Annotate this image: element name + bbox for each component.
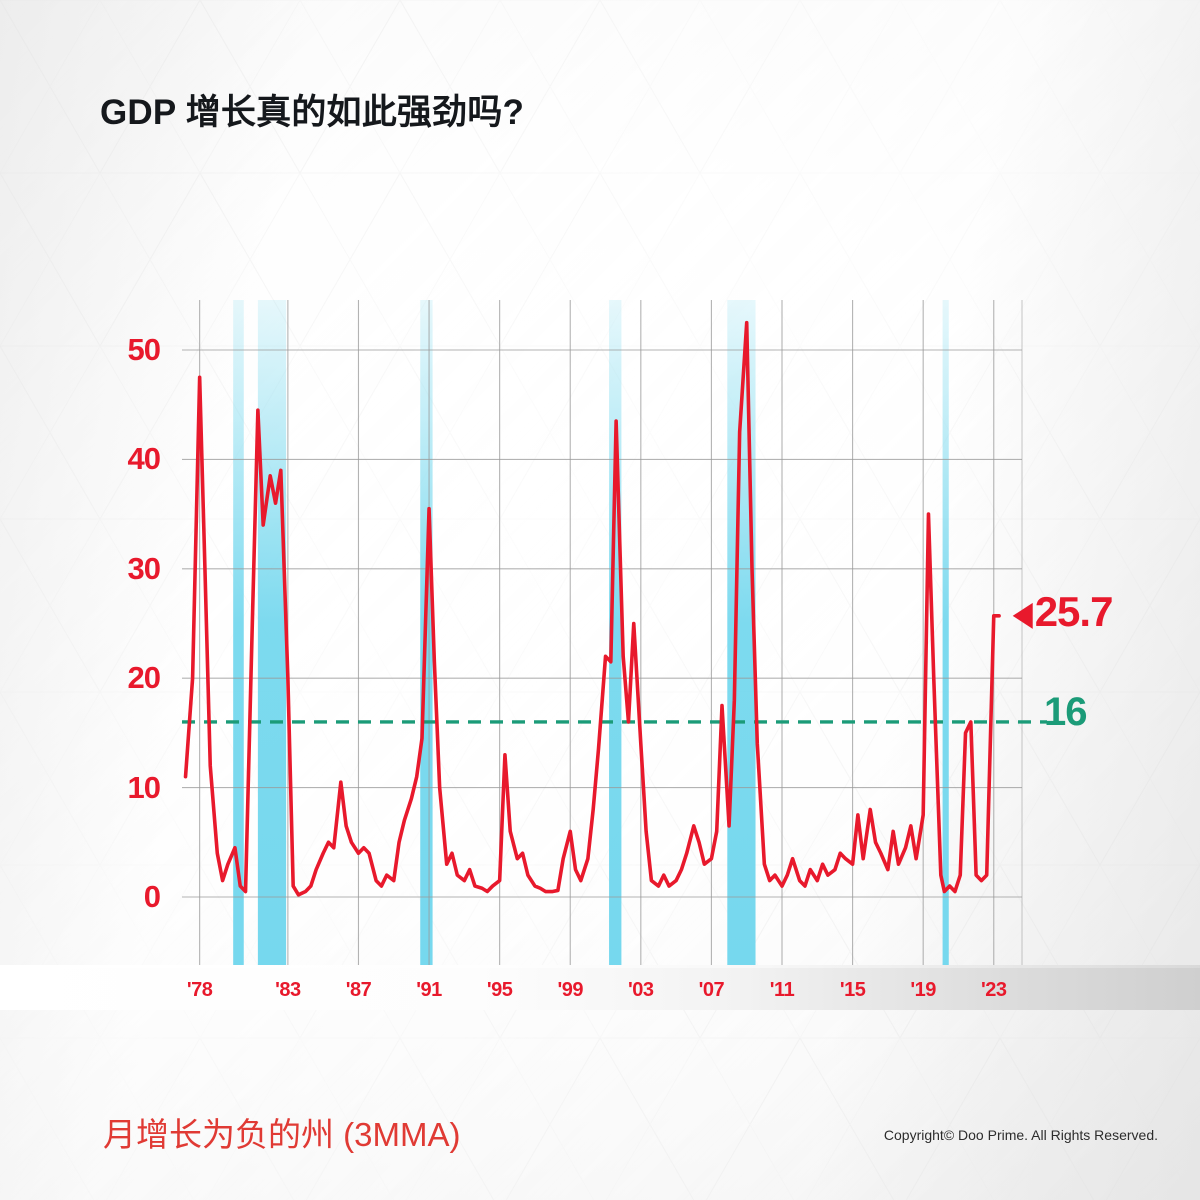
y-axis-tick-label: 30 [100,551,160,587]
recession-bands [233,300,949,975]
chart-caption: 月增长为负的州 (3MMA) [103,1108,461,1156]
axis-strip-highlight [0,965,1200,968]
x-axis-tick-label: '83 [275,979,301,1002]
x-axis-tick-label: '23 [981,979,1007,1002]
end-marker-triangle [1013,603,1033,629]
data-line [186,323,1000,895]
chart-canvas [0,0,1200,1200]
x-axis-tick-label: '15 [840,979,866,1002]
x-axis-tick-label: '03 [628,979,654,1002]
x-axis-tick-label: '19 [910,979,936,1002]
y-axis-tick-label: 0 [100,879,160,915]
y-axis-tick-label: 20 [100,660,160,696]
x-axis-tick-label: '95 [487,979,513,1002]
y-axis-tick-label: 50 [100,332,160,368]
y-axis-tick-label: 10 [100,770,160,806]
y-axis-tick-label: 40 [100,441,160,477]
x-axis-tick-label: '78 [187,979,213,1002]
x-axis-tick-label: '91 [416,979,442,1002]
chart-gridlines [182,300,1022,975]
axis-strip [0,965,1200,1010]
x-axis-tick-label: '07 [699,979,725,1002]
threshold-value-label: 16 [1044,690,1087,735]
x-axis-tick-label: '11 [770,979,794,1002]
x-axis-tick-label: '87 [346,979,372,1002]
x-axis-tick-label: '99 [557,979,583,1002]
latest-value-label: 25.7 [1035,588,1113,636]
copyright-notice: Copyright© Doo Prime. All Rights Reserve… [884,1127,1158,1143]
